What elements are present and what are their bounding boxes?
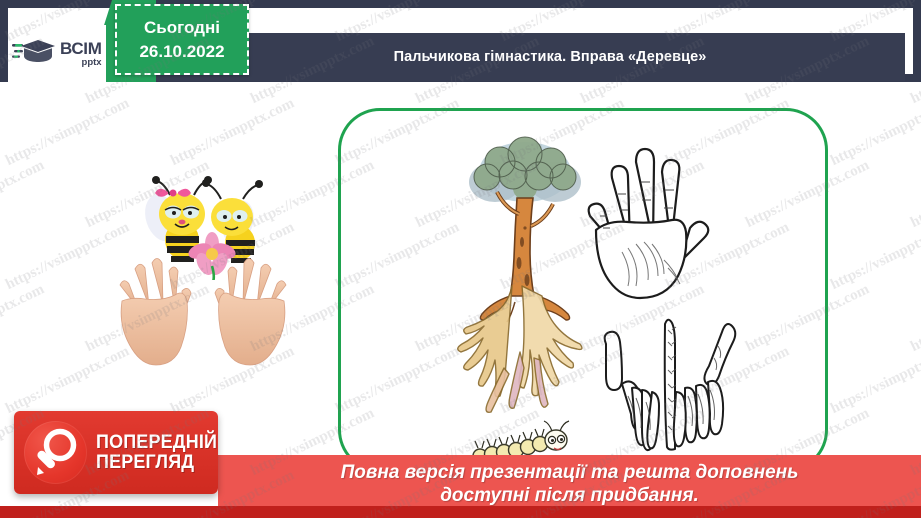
banner-bottom-strip-left: [0, 506, 218, 518]
downward-hands-drawing: [600, 310, 740, 455]
graduation-cap-icon: [12, 36, 56, 72]
preview-badge-text: ПОПЕРЕДНІЙ ПЕРЕГЛЯД: [96, 433, 228, 473]
date-badge-value: 26.10.2022: [139, 41, 224, 62]
logo-name: ВСІМ: [60, 40, 102, 57]
logo-sub: pptx: [60, 58, 102, 68]
preview-badge[interactable]: ПОПЕРЕДНІЙ ПЕРЕГЛЯД: [14, 411, 218, 494]
logo-text: ВСІМ pptx: [60, 40, 102, 68]
banner-line2: доступні після придбання.: [440, 484, 699, 507]
banner-line1: Повна версія презентації та решта доповн…: [341, 461, 799, 484]
banner-bottom-strip: [218, 506, 921, 518]
page-title: Пальчикова гімнастика. Вправа «Деревце»: [250, 33, 850, 81]
watercolor-roots: [452, 282, 612, 442]
preview-badge-line2: ПЕРЕГЛЯД: [96, 453, 217, 473]
today-date-badge: Сьогодні 26.10.2022: [115, 4, 249, 75]
magnifier-icon: [24, 421, 87, 484]
slide-root: Пальчикова гімнастика. Вправа «Деревце» …: [0, 0, 921, 518]
date-badge-label: Сьогодні: [144, 17, 220, 38]
child-hands-photo: [108, 257, 298, 417]
brand-logo[interactable]: ВСІМ pptx: [8, 28, 106, 80]
